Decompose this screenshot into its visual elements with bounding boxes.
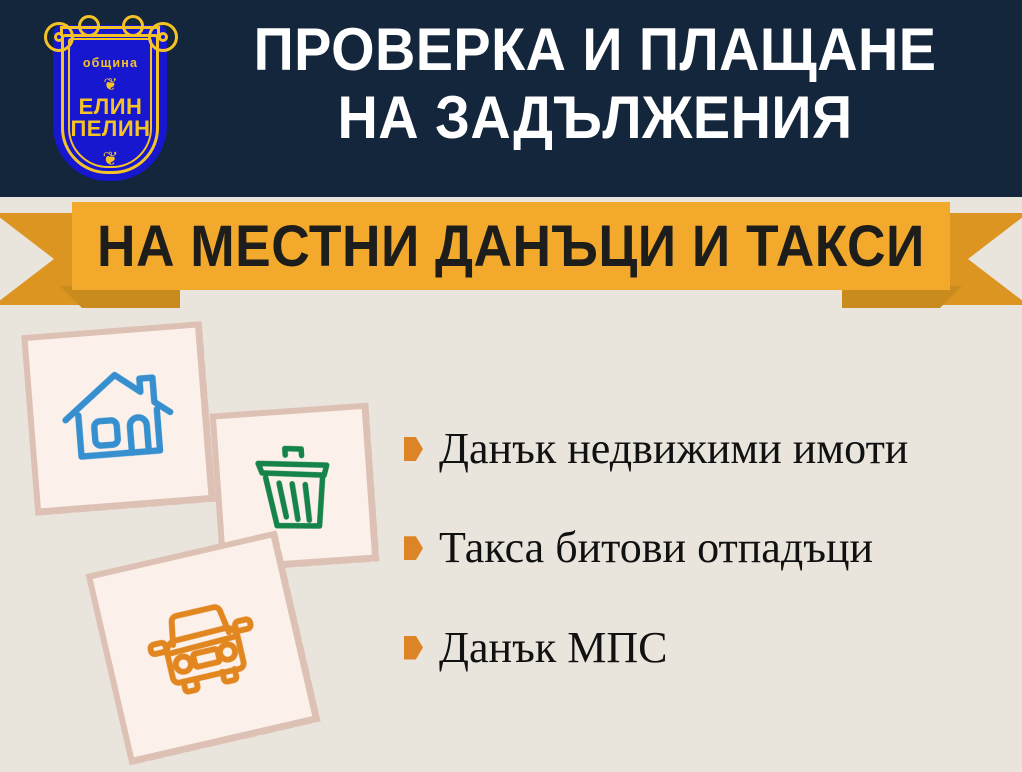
stamp-house-paper: [28, 328, 209, 509]
bullet-arrow-icon: [404, 536, 423, 560]
crest-ornament-top-icon: ❦: [38, 76, 183, 93]
ribbon-bar: НА МЕСТНИ ДАНЪЦИ И ТАКСИ: [72, 202, 950, 290]
stamp-car-paper: [93, 538, 312, 757]
crest-municipality-word: община: [38, 56, 183, 70]
municipality-crest-logo: община ❦ ЕЛИН ПЕЛИН ❦: [38, 8, 183, 190]
list-item[interactable]: Данък МПС: [404, 623, 1014, 672]
list-item-label: Данък МПС: [439, 623, 667, 672]
header-band: община ❦ ЕЛИН ПЕЛИН ❦ ПРОВЕРКА И ПЛАЩАНЕ…: [0, 0, 1022, 197]
poster-root: община ❦ ЕЛИН ПЕЛИН ❦ ПРОВЕРКА И ПЛАЩАНЕ…: [0, 0, 1022, 772]
bullet-arrow-icon: [404, 636, 423, 660]
house-icon: [53, 353, 182, 482]
bullet-arrow-icon: [404, 437, 423, 461]
list-item[interactable]: Данък недвижими имоти: [404, 424, 1014, 473]
list-item-label: Данък недвижими имоти: [439, 424, 908, 473]
list-item[interactable]: Такса битови отпадъци: [404, 523, 1014, 572]
tax-type-list: Данък недвижими имоти Такса битови отпад…: [404, 424, 1014, 672]
ribbon-label: НА МЕСТНИ ДАНЪЦИ И ТАКСИ: [97, 213, 925, 280]
page-title: ПРОВЕРКА И ПЛАЩАНЕ НА ЗАДЪЛЖЕНИЯ: [214, 16, 977, 153]
list-item-label: Такса битови отпадъци: [439, 523, 873, 572]
crest-municipality-name: ЕЛИН ПЕЛИН: [38, 96, 183, 141]
car-icon: [129, 574, 275, 720]
crest-ornament-bottom-icon: ❦: [38, 150, 183, 169]
stamp-house: [10, 310, 225, 525]
subtitle-ribbon: НА МЕСТНИ ДАНЪЦИ И ТАКСИ: [0, 196, 1022, 316]
